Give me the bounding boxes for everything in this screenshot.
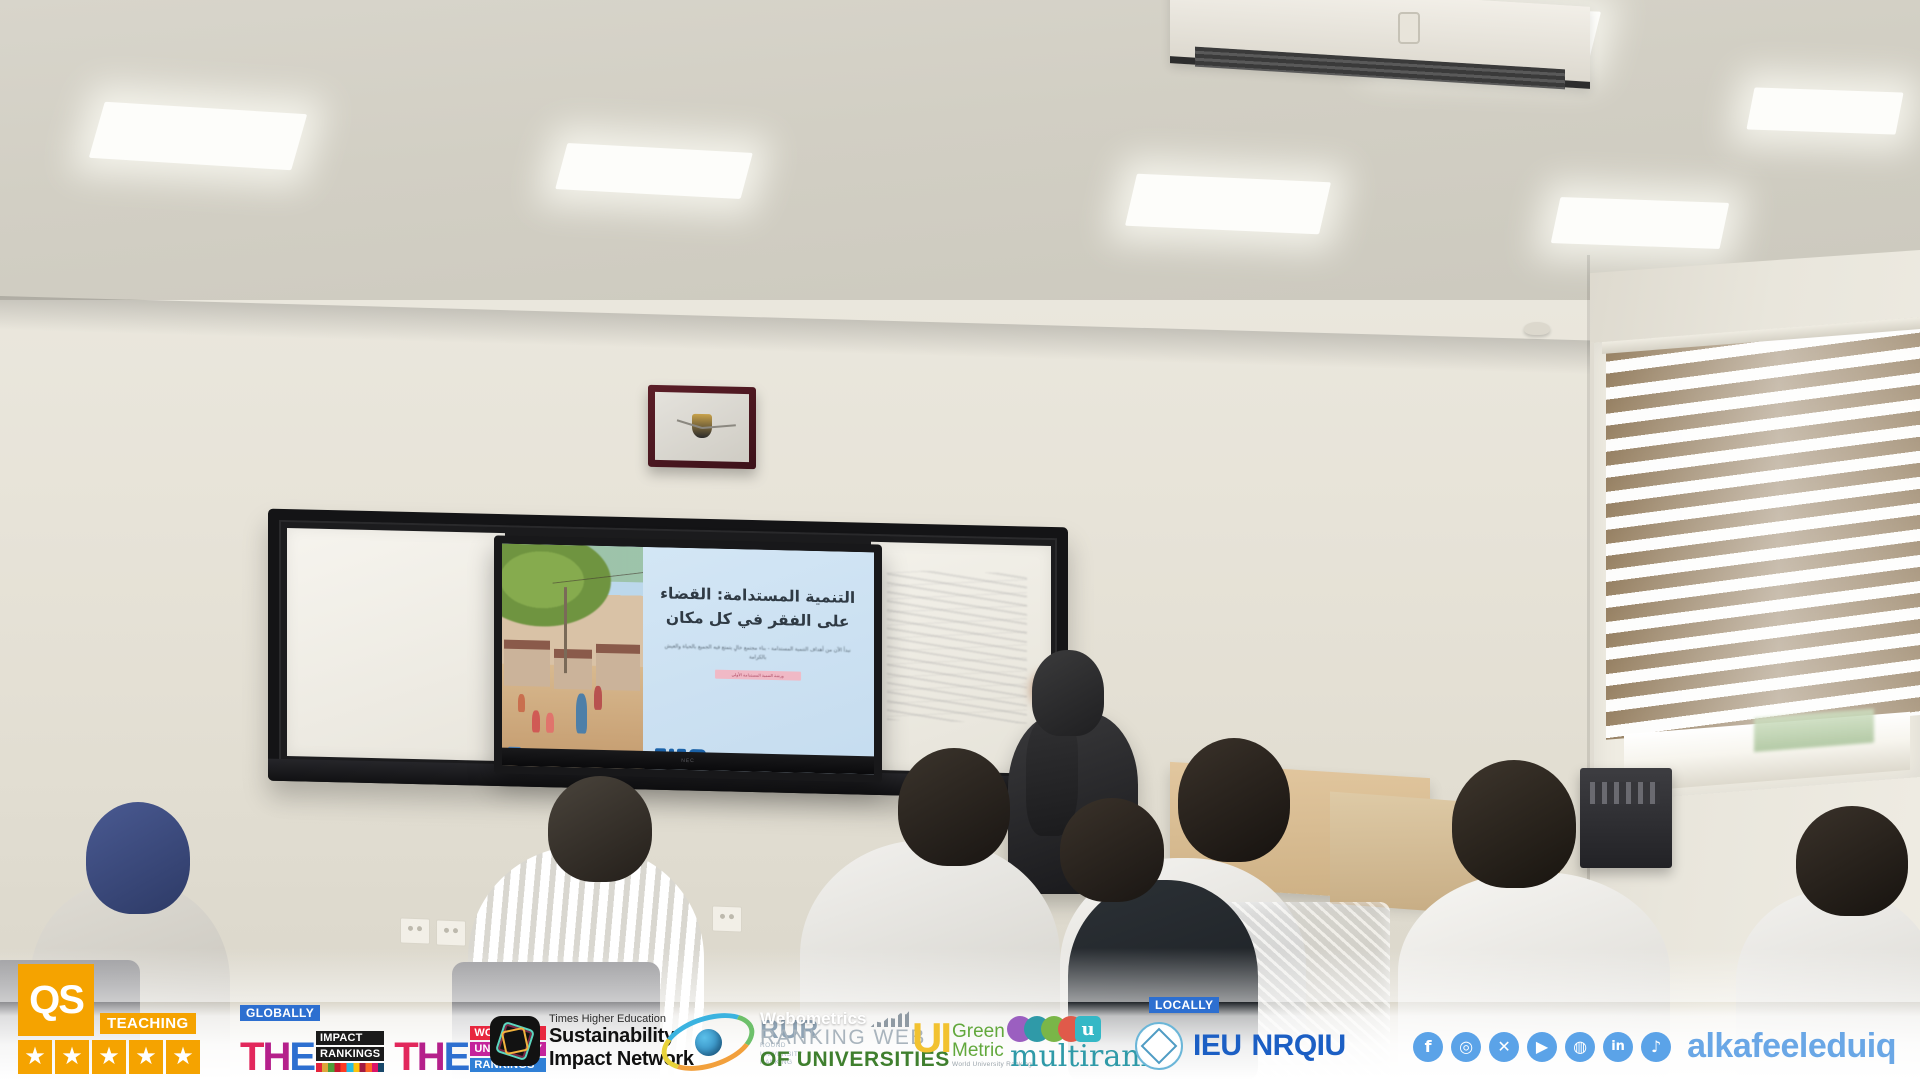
interactive-smart-display[interactable]: التنمية المستدامة: القضاء على الفقر في ك… [494,535,882,782]
qs-category-label: TEACHING [100,1013,196,1034]
audience-member-head [1178,738,1290,862]
ceiling-led-panel [1551,197,1730,249]
slide-text-area: التنمية المستدامة: القضاء على الفقر في ك… [643,547,874,774]
audience-member-head [898,748,1010,866]
qs-rating-logo[interactable]: QS TEACHING ★ ★ ★ ★ ★ [18,964,218,1074]
window-daylight-glow [1606,323,1920,740]
the-impact-line-2: RANKINGS [316,1047,384,1061]
plaque-face [655,392,749,462]
wall-clock-plaque [648,385,756,469]
sdg-color-bar [316,1063,384,1072]
star-icon: ★ [18,1040,52,1074]
illustration-child [532,710,540,732]
rur-eye-icon [660,1016,756,1068]
audience-member-head [1452,760,1576,888]
presentation-slide: التنمية المستدامة: القضاء على الفقر في ك… [502,544,874,775]
globe-icon [695,1029,722,1056]
classroom-photo: التنمية المستدامة: القضاء على الفقر في ك… [0,0,1920,1080]
erased-marker-marks [887,570,1027,723]
illustration-house [504,640,550,687]
youtube-icon[interactable]: ▶ [1527,1032,1557,1062]
slide-illustration [502,544,643,769]
slide-title: التنمية المستدامة: القضاء على الفقر في ك… [657,581,858,634]
wall-power-outlet [712,905,742,932]
audience-member-head [1060,798,1164,902]
instagram-icon[interactable]: ◎ [1451,1032,1481,1062]
x-twitter-icon[interactable]: ✕ [1489,1032,1519,1062]
social-handle[interactable]: alkafeeleduiq [1687,1027,1896,1066]
accreditation-banner: QS TEACHING ★ ★ ★ ★ ★ GLOBALLY THE IMPAC… [0,1002,1920,1080]
the-wordmark: THE [240,1041,314,1074]
ceiling-led-panel [1125,174,1331,235]
local-rankings-group[interactable]: LOCALLY IEU NRQIU [1135,1022,1346,1070]
the-impact-lines: IMPACT RANKINGS [316,1031,384,1072]
social-media-bar[interactable]: f ◎ ✕ ▶ ◍ in ♪ alkafeeleduiq [1413,1027,1896,1066]
wall-power-outlet [436,919,466,946]
linkedin-icon[interactable]: in [1603,1032,1633,1062]
globally-label: GLOBALLY [240,1005,320,1021]
webometrics-wordmark: Webometrics [760,1010,866,1027]
illustration-adult [576,693,587,733]
illustration-house [596,644,640,691]
ieu-wordmark[interactable]: IEU [1193,1029,1242,1063]
qs-mark: QS [18,964,94,1036]
av-console[interactable] [1580,768,1672,868]
star-icon: ★ [166,1040,200,1074]
locally-label: LOCALLY [1149,997,1219,1013]
audience-member-head [1796,806,1908,916]
star-icon: ★ [55,1040,89,1074]
the-wordmark: THE [394,1041,468,1074]
audience-member-hijab [86,802,190,914]
window [1590,317,1920,803]
uigm-wordmark: UI [912,1020,950,1056]
illustration-child [594,686,602,710]
sin-hex-icon [490,1016,540,1066]
the-impact-line-1: IMPACT [316,1031,384,1045]
slide-subtitle: نبدأ الآن من أهداف التنمية المستدامة - ب… [657,642,858,664]
whiteboard-left-panel[interactable] [287,528,505,761]
star-icon: ★ [129,1040,163,1074]
tiktok-icon[interactable]: ♪ [1641,1032,1671,1062]
ceiling-led-panel [89,102,307,171]
wall-power-outlet [400,917,430,944]
star-icon: ★ [92,1040,126,1074]
dribbble-icon[interactable]: ◍ [1565,1032,1595,1062]
qs-star-rating: ★ ★ ★ ★ ★ [18,1040,218,1074]
smoke-detector-icon [1524,322,1550,335]
sprinkler-head-icon [1398,12,1420,44]
growth-chart-icon [870,1007,912,1027]
console-controls[interactable] [1590,782,1660,804]
facebook-icon[interactable]: f [1413,1032,1443,1062]
slide-highlight-tag: ورشة التنمية المستدامة الأولى [715,669,801,680]
nrqiu-wordmark[interactable]: NRQIU [1252,1029,1346,1063]
ceiling-led-panel [555,143,753,199]
ieu-seal-icon [1135,1022,1183,1070]
illustration-house [554,649,592,690]
qs-logo-row: QS TEACHING [18,964,218,1036]
illustration-child [546,713,554,733]
ceiling-led-panel [1746,87,1903,134]
illustration-child [518,694,525,712]
display-brand-label: NEC [681,758,695,764]
audience-member-head [548,776,652,882]
presenter-hijab [1032,650,1104,736]
the-impact-rankings-logo[interactable]: THE IMPACT RANKINGS [240,1031,384,1074]
